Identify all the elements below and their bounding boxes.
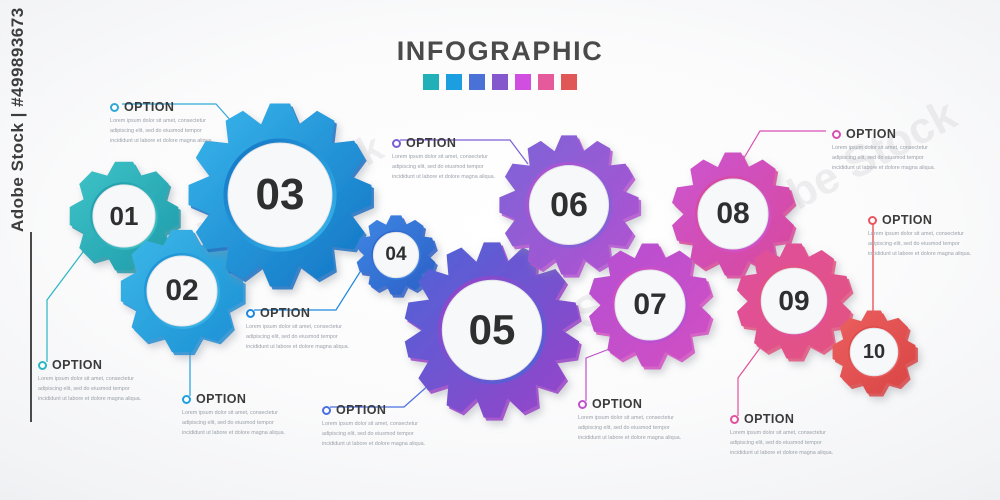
- bullet-circle-icon: [730, 415, 739, 424]
- bullet-circle-icon: [110, 103, 119, 112]
- color-swatch-3: [469, 74, 485, 90]
- callout-label: OPTION: [124, 100, 174, 114]
- callout-body-text: Lorem ipsum dolor sit amet, consectetur …: [246, 322, 358, 352]
- callout-header: OPTION: [730, 412, 848, 426]
- callout-01-top[interactable]: OPTIONLorem ipsum dolor sit amet, consec…: [110, 100, 228, 146]
- color-swatch-1: [423, 74, 439, 90]
- color-swatch-6: [538, 74, 554, 90]
- callout-header: OPTION: [578, 397, 696, 411]
- callout-label: OPTION: [846, 127, 896, 141]
- callout-label: OPTION: [52, 358, 102, 372]
- callout-header: OPTION: [392, 136, 510, 150]
- callout-body-text: Lorem ipsum dolor sit amet, consectetur …: [868, 229, 980, 259]
- callout-03[interactable]: OPTIONLorem ipsum dolor sit amet, consec…: [246, 306, 364, 352]
- callout-label: OPTION: [592, 397, 642, 411]
- callout-07[interactable]: OPTIONLorem ipsum dolor sit amet, consec…: [578, 397, 696, 443]
- callout-body-text: Lorem ipsum dolor sit amet, consectetur …: [730, 428, 842, 458]
- callout-04[interactable]: OPTIONLorem ipsum dolor sit amet, consec…: [322, 403, 440, 449]
- bullet-circle-icon: [392, 139, 401, 148]
- callout-10[interactable]: OPTIONLorem ipsum dolor sit amet, consec…: [868, 213, 986, 259]
- color-swatch-2: [446, 74, 462, 90]
- callout-06[interactable]: OPTIONLorem ipsum dolor sit amet, consec…: [392, 136, 510, 182]
- callout-01-bottom[interactable]: OPTIONLorem ipsum dolor sit amet, consec…: [38, 358, 156, 404]
- callout-label: OPTION: [260, 306, 310, 320]
- callout-body-text: Lorem ipsum dolor sit amet, consectetur …: [322, 419, 434, 449]
- callout-body-text: Lorem ipsum dolor sit amet, consectetur …: [832, 143, 944, 173]
- page-title: INFOGRAPHIC: [0, 36, 1000, 67]
- callout-header: OPTION: [182, 392, 300, 406]
- callout-header: OPTION: [38, 358, 156, 372]
- color-swatch-7: [561, 74, 577, 90]
- bullet-circle-icon: [578, 400, 587, 409]
- callout-header: OPTION: [110, 100, 228, 114]
- bullet-circle-icon: [832, 130, 841, 139]
- callout-09[interactable]: OPTIONLorem ipsum dolor sit amet, consec…: [730, 412, 848, 458]
- callout-label: OPTION: [196, 392, 246, 406]
- callout-header: OPTION: [868, 213, 986, 227]
- bullet-circle-icon: [182, 395, 191, 404]
- callout-body-text: Lorem ipsum dolor sit amet, consectetur …: [110, 116, 222, 146]
- bullet-circle-icon: [322, 406, 331, 415]
- watermark-rule: [30, 232, 32, 422]
- callout-body-text: Lorem ipsum dolor sit amet, consectetur …: [392, 152, 504, 182]
- bullet-circle-icon: [246, 309, 255, 318]
- callout-header: OPTION: [322, 403, 440, 417]
- color-swatch-5: [515, 74, 531, 90]
- callout-08[interactable]: OPTIONLorem ipsum dolor sit amet, consec…: [832, 127, 950, 173]
- callout-header: OPTION: [832, 127, 950, 141]
- callout-02[interactable]: OPTIONLorem ipsum dolor sit amet, consec…: [182, 392, 300, 438]
- callout-label: OPTION: [406, 136, 456, 150]
- callout-header: OPTION: [246, 306, 364, 320]
- color-swatch-4: [492, 74, 508, 90]
- callout-label: OPTION: [744, 412, 794, 426]
- gear-10[interactable]: 10: [816, 294, 932, 410]
- callout-label: OPTION: [336, 403, 386, 417]
- callout-body-text: Lorem ipsum dolor sit amet, consectetur …: [182, 408, 294, 438]
- bullet-circle-icon: [38, 361, 47, 370]
- callout-body-text: Lorem ipsum dolor sit amet, consectetur …: [38, 374, 150, 404]
- bullet-circle-icon: [868, 216, 877, 225]
- infographic-canvas: Adobe Stock Adobe Stock Adobe Stock Adob…: [0, 0, 1000, 500]
- color-swatch-row: [0, 74, 1000, 90]
- callout-label: OPTION: [882, 213, 932, 227]
- callout-body-text: Lorem ipsum dolor sit amet, consectetur …: [578, 413, 690, 443]
